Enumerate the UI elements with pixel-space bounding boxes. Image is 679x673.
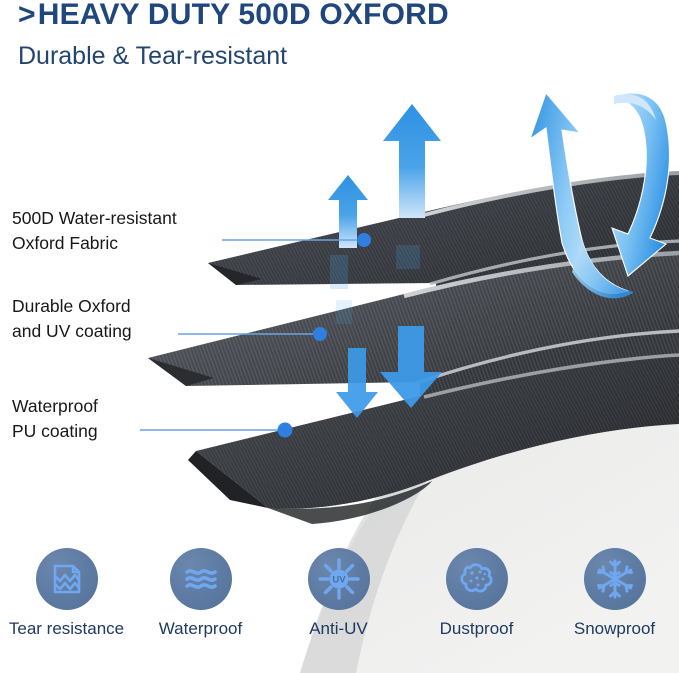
- callout-label-uv: Durable Oxford and UV coating: [12, 294, 132, 344]
- callout-dot-1: [357, 233, 371, 247]
- page-subtitle: Durable & Tear-resistant: [18, 42, 287, 71]
- callout-dot-3: [278, 423, 293, 438]
- page-title-text: HEAVY DUTY 500D OXFORD: [38, 0, 449, 31]
- feature-label: Waterproof: [133, 619, 268, 639]
- feature-tear-resistance: Tear resistance: [0, 548, 134, 639]
- callout-dot-2: [313, 327, 327, 341]
- page-title: >HEAVY DUTY 500D OXFORD: [18, 0, 449, 32]
- feature-label: Anti-UV: [271, 619, 406, 639]
- snowflake-icon: [584, 548, 646, 610]
- dust-cloud-icon: [446, 548, 508, 610]
- callout-line-2: PU coating: [12, 419, 98, 444]
- sun-uv-icon: UV: [308, 548, 370, 610]
- feature-anti-uv: UV Anti-UV: [271, 548, 406, 639]
- torn-document-icon: [36, 548, 98, 610]
- callout-line-1: 500D Water-resistant: [12, 206, 177, 231]
- feature-waterproof: Waterproof: [133, 548, 268, 639]
- arrow-up-large: [383, 104, 441, 218]
- callout-label-fabric: 500D Water-resistant Oxford Fabric: [12, 206, 177, 256]
- callout-line-2: Oxford Fabric: [12, 231, 177, 256]
- feature-label: Dustproof: [409, 619, 544, 639]
- feature-strip: Tear resistance Waterproof: [0, 548, 679, 673]
- callout-line-1: Waterproof: [12, 394, 98, 419]
- infographic-canvas: >HEAVY DUTY 500D OXFORD Durable & Tear-r…: [0, 0, 679, 673]
- feature-dustproof: Dustproof: [409, 548, 544, 639]
- feature-label: Snowproof: [547, 619, 679, 639]
- chevron-right-icon: >: [18, 0, 36, 31]
- callout-line-2: and UV coating: [12, 319, 132, 344]
- callout-label-pu: Waterproof PU coating: [12, 394, 98, 444]
- uv-badge-text: UV: [332, 574, 346, 585]
- water-waves-icon: [170, 548, 232, 610]
- feature-label: Tear resistance: [0, 619, 134, 639]
- callout-line-1: Durable Oxford: [12, 294, 132, 319]
- feature-snowproof: Snowproof: [547, 548, 679, 639]
